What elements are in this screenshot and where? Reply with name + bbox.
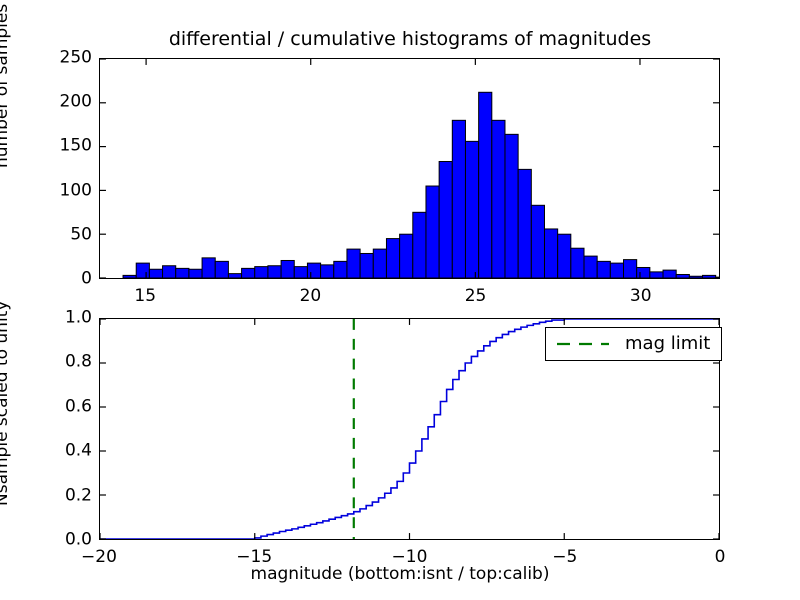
histogram-bar (544, 229, 557, 278)
y-tick-label: 250 (20, 50, 92, 67)
histogram-bar (413, 212, 426, 278)
histogram-bar (505, 134, 518, 278)
x-tick-label: 20 (300, 288, 322, 305)
histogram-bar (439, 161, 452, 278)
histogram-bar (465, 141, 478, 278)
x-tick-label: 15 (134, 288, 156, 305)
histogram-bar (123, 275, 136, 278)
histogram-bar (624, 260, 637, 278)
histogram-bar (149, 269, 162, 278)
histogram-bar (163, 266, 176, 278)
histogram-bar (373, 249, 386, 278)
figure-canvas: differential / cumulative histograms of … (0, 0, 800, 600)
y-tick-label: 50 (20, 226, 92, 243)
histogram-bar (242, 268, 255, 278)
y-tick-label: 150 (20, 138, 92, 155)
y-tick-label: 0.8 (20, 354, 92, 371)
histogram-bar (571, 248, 584, 278)
histogram-bar (610, 263, 623, 278)
histogram-bar (321, 265, 334, 278)
page-title: differential / cumulative histograms of … (169, 30, 651, 49)
histogram-bar (663, 270, 676, 278)
histogram-bar (268, 266, 281, 278)
x-axis-label: magnitude (bottom:isnt / top:calib) (251, 566, 550, 583)
x-tick-label: −5 (552, 549, 577, 566)
legend[interactable]: mag limit (545, 327, 722, 361)
histogram-bar (228, 274, 241, 278)
x-tick-label: 30 (630, 288, 652, 305)
histogram-bar (637, 267, 650, 278)
histogram-bar (215, 261, 228, 278)
y-tick-label: 1.0 (20, 310, 92, 327)
histogram-bar (426, 186, 439, 278)
y-tick-label: 0.0 (20, 532, 92, 549)
histogram-bar (650, 272, 663, 278)
histogram-bar (676, 274, 689, 278)
histogram-bar (136, 263, 149, 278)
histogram-bar (202, 258, 215, 278)
differential-histogram-axes (99, 58, 720, 279)
histogram-bar (334, 261, 347, 278)
y-tick-label: 0.4 (20, 443, 92, 460)
histogram-bar (307, 263, 320, 278)
x-tick-label: −20 (81, 549, 117, 566)
histogram-bar (584, 256, 597, 278)
x-tick-label: 25 (465, 288, 487, 305)
top-y-axis-label: number of samples (0, 4, 11, 168)
y-tick-label: 0.6 (20, 398, 92, 415)
histogram-bar (597, 261, 610, 278)
histogram-bar (294, 267, 307, 278)
histogram-bar (386, 239, 399, 278)
histogram-bar (689, 276, 702, 278)
legend-label-mag-limit: mag limit (625, 335, 710, 353)
histogram-bar (531, 205, 544, 278)
x-tick-label: 0 (715, 549, 726, 566)
histogram-bars (123, 92, 719, 278)
histogram-bar (452, 120, 465, 278)
histogram-bar (176, 268, 189, 278)
histogram-bar (189, 269, 202, 278)
mag-limit-line-icon (555, 337, 611, 351)
histogram-bar (492, 120, 505, 278)
y-tick-label: 0 (20, 271, 92, 288)
histogram-bar (558, 234, 571, 278)
histogram-bar (347, 249, 360, 278)
histogram-bar (400, 234, 413, 278)
histogram-bar (360, 253, 373, 278)
bottom-y-axis-label: Nsample scaled to unity (0, 301, 11, 506)
histogram-bar (281, 260, 294, 278)
y-tick-label: 100 (20, 182, 92, 199)
y-tick-label: 200 (20, 94, 92, 111)
y-tick-label: 0.2 (20, 487, 92, 504)
histogram-bar (518, 169, 531, 278)
differential-histogram-plot (100, 59, 719, 278)
histogram-bar (479, 92, 492, 278)
histogram-bar (255, 267, 268, 278)
